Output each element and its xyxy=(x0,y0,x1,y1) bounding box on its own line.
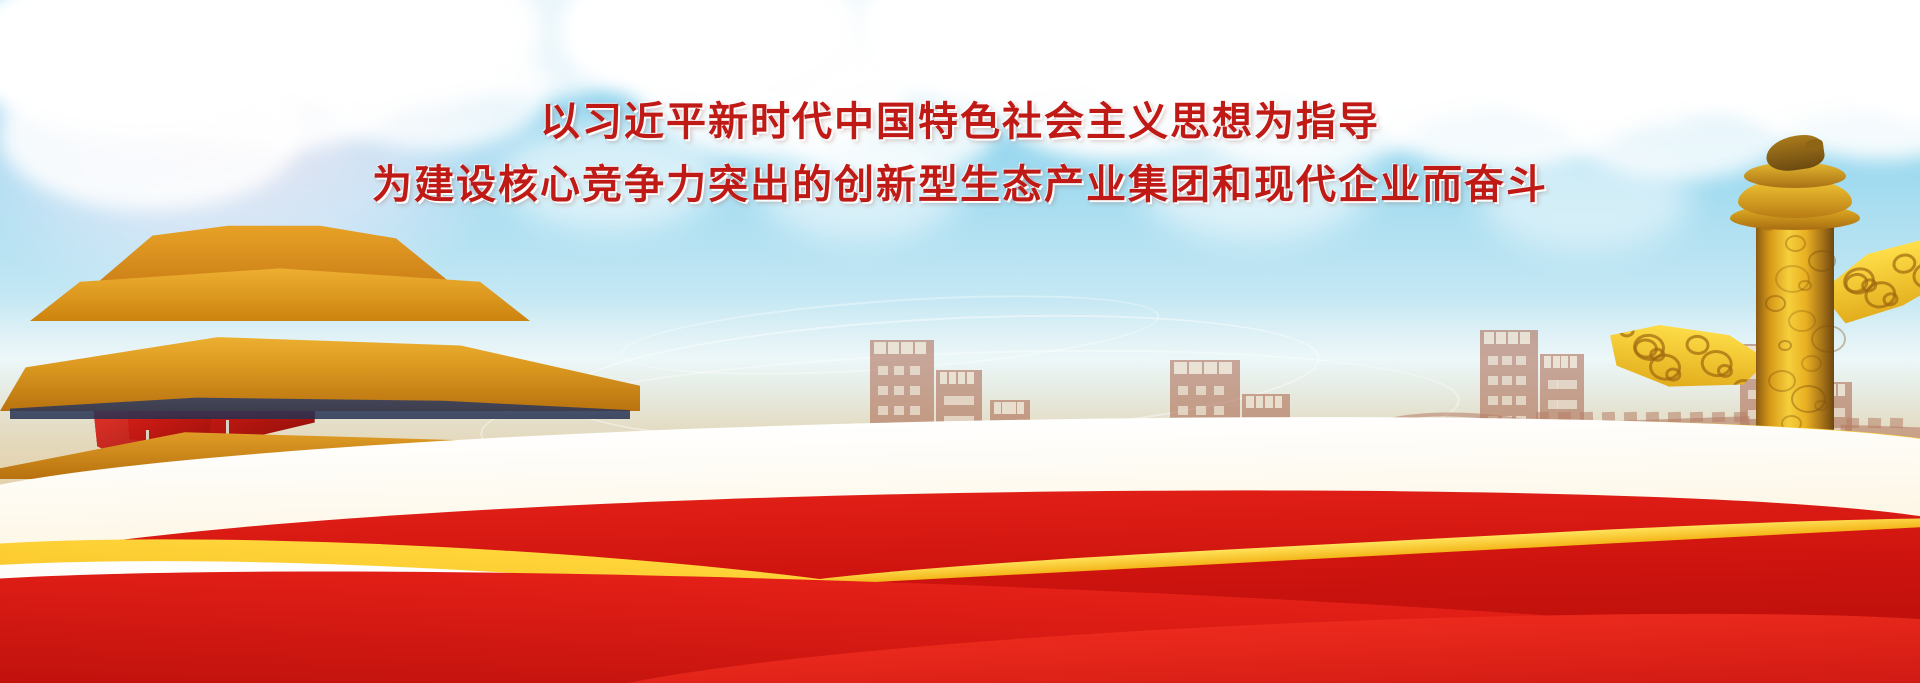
dragon-carving xyxy=(1804,430,1832,452)
gate-lower-roof xyxy=(0,419,660,479)
wall-etch-block xyxy=(936,440,950,451)
wall-etch-block xyxy=(1646,412,1659,422)
wall-etch-block xyxy=(910,446,920,455)
wall-etch-block xyxy=(1488,356,1498,365)
wall-etch-block xyxy=(1134,440,1148,451)
wall-etch-block xyxy=(1502,376,1512,385)
wall-etch-block xyxy=(1567,380,1577,389)
wall-etch-block xyxy=(1214,386,1224,395)
wall-etch-block xyxy=(1668,412,1681,422)
dragon-carving xyxy=(1814,400,1828,411)
wall-etch-block xyxy=(878,366,888,375)
foreground-tree xyxy=(760,568,856,676)
gate-column xyxy=(398,484,405,530)
wall-etch-block xyxy=(954,396,964,405)
wall-etch-block xyxy=(1624,412,1637,422)
wall-etch-block xyxy=(958,372,965,384)
cloud-scroll xyxy=(1665,367,1682,382)
wall-etch-block xyxy=(888,342,900,354)
wall-etch-block xyxy=(1017,402,1024,414)
dragon-carving xyxy=(1781,415,1802,432)
gate-column xyxy=(548,480,555,526)
wall-etch-block xyxy=(1580,412,1593,422)
gate-main-roof xyxy=(0,327,640,411)
wall-etch-block xyxy=(1156,440,1170,451)
wall-etch-block xyxy=(1890,418,1903,428)
wall-etch-block xyxy=(958,440,972,451)
wall-etch-block xyxy=(1502,396,1512,405)
dragon-carving xyxy=(1788,310,1816,332)
wall-etch-block xyxy=(1178,426,1188,435)
wall-etch-block xyxy=(1250,420,1260,429)
wall-etch-block xyxy=(1602,412,1615,422)
wall-etch-block xyxy=(878,406,888,415)
wall-etch-block xyxy=(1561,356,1568,368)
dragon-carving xyxy=(1807,505,1842,533)
wall-etch-block xyxy=(954,416,964,425)
wall-etch-block xyxy=(894,386,904,395)
wall-etch-block xyxy=(910,426,920,435)
gate-red-wall xyxy=(0,539,720,659)
wall-etch-block xyxy=(1219,362,1232,374)
wall-etch-block xyxy=(1516,396,1526,405)
wall-etch-block xyxy=(1174,362,1187,374)
wall-etch-block xyxy=(1520,332,1530,344)
wall-etch-block xyxy=(1214,426,1224,435)
wall-etch-block xyxy=(1553,356,1560,368)
wall-etch-block xyxy=(1261,420,1271,429)
wall-etch-block xyxy=(1567,400,1577,409)
wall-etch-block xyxy=(878,386,888,395)
wall-etch-block xyxy=(980,440,994,451)
dragon-carving xyxy=(1797,535,1818,552)
dragon-carving xyxy=(1808,250,1836,272)
wall-etch-block xyxy=(1488,396,1498,405)
dragon-carving xyxy=(1765,295,1786,312)
wall-etch-block xyxy=(1046,440,1060,451)
wall-etch-block xyxy=(944,396,954,405)
wall-etch-block xyxy=(874,342,886,354)
wall-etch-block xyxy=(1054,461,1068,472)
wall-etch-block xyxy=(878,446,888,455)
wall-etch-block xyxy=(1488,376,1498,385)
wall-etch-block xyxy=(1196,386,1206,395)
wall-etch-block xyxy=(994,402,1001,414)
wall-etch-block xyxy=(1196,406,1206,415)
wall-etch-block xyxy=(1178,406,1188,415)
wall-etch-block xyxy=(1204,362,1217,374)
wall-etch-block xyxy=(967,372,974,384)
dragon-carving xyxy=(1811,325,1846,353)
wall-etch-block xyxy=(1275,396,1283,408)
wall-etch-block xyxy=(1032,461,1046,472)
wall-etch-block xyxy=(1570,356,1577,368)
dragon-carving xyxy=(1785,235,1806,252)
wall-etch-block xyxy=(894,406,904,415)
dragon-carving xyxy=(1801,355,1822,372)
gate-upper-roof-2 xyxy=(30,265,530,321)
dragon-carving xyxy=(1778,340,1792,351)
wall-etch-block xyxy=(910,386,920,395)
gate-column xyxy=(298,487,305,533)
wall-etch-block xyxy=(1214,406,1224,415)
gate-column xyxy=(448,483,455,529)
wall-etch-block xyxy=(1265,396,1273,408)
title-line-1: 以习近平新时代中国特色社会主义思想为指导 xyxy=(0,96,1920,149)
wall-etch-block xyxy=(1271,420,1281,429)
wall-etch-block xyxy=(1189,362,1202,374)
wall-etch-block xyxy=(915,342,927,354)
gate-column xyxy=(348,485,355,531)
wall-etch-block xyxy=(1516,376,1526,385)
wall-etch-block xyxy=(1009,402,1016,414)
wall-etch-block xyxy=(1502,356,1512,365)
wall-etch-block xyxy=(1002,440,1016,451)
wall-etch-block xyxy=(1002,402,1009,414)
wall-etch-block xyxy=(1558,412,1571,422)
wall-etch-block xyxy=(1068,440,1082,451)
dragon-carving xyxy=(1774,520,1788,531)
dragon-carving xyxy=(1798,280,1812,291)
dragon-carving xyxy=(1768,370,1796,392)
wall-etch-block xyxy=(1014,426,1024,435)
gate-column xyxy=(598,479,605,525)
dragon-carving xyxy=(1784,490,1812,512)
wall-etch-block xyxy=(1508,332,1518,344)
wall-etch-block xyxy=(1112,440,1126,451)
wall-etch-block xyxy=(944,416,954,425)
tiananmen-gate xyxy=(0,223,760,603)
wall-etch-block xyxy=(870,340,934,490)
party-propaganda-banner: 以习近平新时代中国特色社会主义思想为指导 为建设核心竞争力突出的创新型生态产业集… xyxy=(0,0,1920,683)
wall-etch-block xyxy=(1256,396,1264,408)
dragon-carving xyxy=(1817,475,1838,492)
wall-etch-block xyxy=(1024,440,1038,451)
wall-etch-block xyxy=(1196,426,1206,435)
wall-etch-block xyxy=(1178,386,1188,395)
wall-etch-block xyxy=(878,426,888,435)
wall-etch-block xyxy=(949,372,956,384)
wall-etch-block xyxy=(964,396,974,405)
cloud-scroll xyxy=(1731,378,1757,401)
wall-etch-block xyxy=(894,446,904,455)
wall-etch-block xyxy=(940,372,947,384)
title-line-2: 为建设核心竞争力突出的创新型生态产业集团和现代企业而奋斗 xyxy=(0,159,1920,212)
wall-etch-block xyxy=(910,406,920,415)
wall-etch-block xyxy=(1544,356,1551,368)
wall-etch-block xyxy=(1090,440,1104,451)
wall-etch-block xyxy=(894,366,904,375)
wall-etch-block xyxy=(1516,356,1526,365)
wall-etch-block xyxy=(910,366,920,375)
banner-title: 以习近平新时代中国特色社会主义思想为指导 为建设核心竞争力突出的创新型生态产业集… xyxy=(0,96,1920,212)
wall-etch-block xyxy=(1484,332,1494,344)
wall-etch-block xyxy=(964,416,974,425)
wall-etch-block xyxy=(1246,396,1254,408)
gate-column xyxy=(498,481,505,527)
cloud-scroll xyxy=(1716,363,1733,378)
dragon-carving xyxy=(1794,460,1808,471)
wall-etch-block xyxy=(894,426,904,435)
wall-etch-block xyxy=(1496,332,1506,344)
huabiao-shaft xyxy=(1756,210,1834,550)
wall-etch-block xyxy=(901,342,913,354)
